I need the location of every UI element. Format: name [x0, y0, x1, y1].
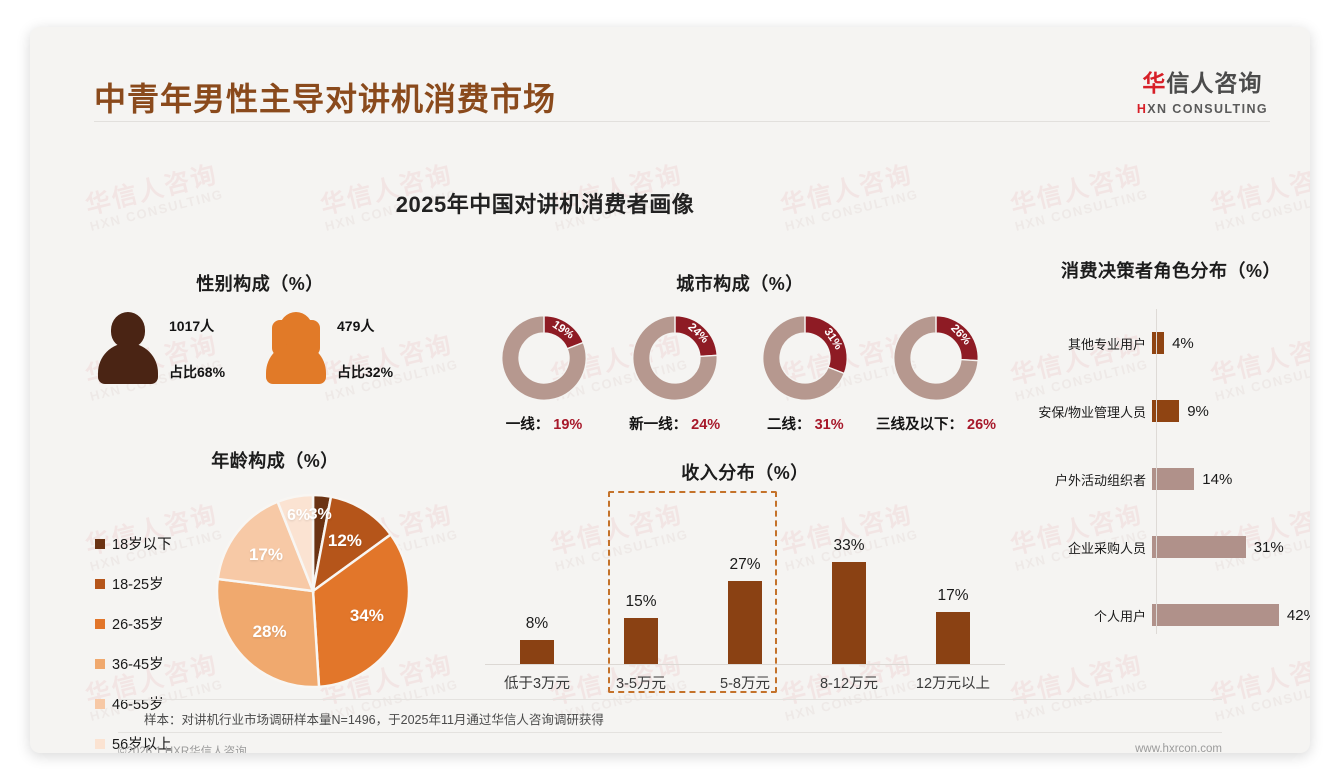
- website-text: www.hxrcon.com: [1135, 743, 1222, 753]
- male-person-icon: [95, 312, 161, 384]
- city-donut-set: 19%一线： 19%24%新一线： 24%31%二线： 31%26%三线及以下：…: [470, 310, 1010, 434]
- donut-caption-value: 31%: [815, 417, 844, 433]
- gender-count: 1017人: [169, 316, 225, 336]
- role-label: 企业采购人员: [1030, 538, 1152, 557]
- role-value: 9%: [1187, 403, 1209, 420]
- age-legend-item: 26-35岁: [95, 613, 205, 634]
- sample-note: 样本：对讲机行业市场调研样本量N=1496，于2025年11月通过华信人咨询调研…: [144, 709, 604, 728]
- role-label: 安保/物业管理人员: [1030, 402, 1152, 421]
- legend-swatch: [95, 539, 105, 549]
- age-legend-item: 18-25岁: [95, 573, 205, 594]
- logo-accent-char: 华: [1142, 70, 1166, 96]
- role-label: 户外活动组织者: [1030, 470, 1152, 489]
- role-bar-row: 企业采购人员31%: [1030, 513, 1310, 581]
- pie-slice-label: 28%: [253, 622, 287, 642]
- legend-swatch: [95, 619, 105, 629]
- brand-logo: 华信人咨询 HXN CONSULTING: [1137, 64, 1268, 116]
- income-axis-line: [485, 664, 1005, 665]
- role-label: 个人用户: [1030, 606, 1152, 625]
- logo-en-rest: XN CONSULTING: [1147, 102, 1268, 116]
- income-bar-column: 33%: [797, 505, 901, 665]
- watermark-text: 华信人咨询HXN CONSULTING: [1207, 161, 1310, 234]
- income-bar: [832, 562, 866, 665]
- note-divider-top: [118, 699, 1222, 700]
- role-label: 其他专业用户: [1030, 334, 1152, 353]
- age-panel-title: 年龄构成（%）: [95, 447, 455, 473]
- donut-svg: 24%: [627, 310, 723, 406]
- header-divider: [94, 121, 1270, 122]
- legend-swatch: [95, 699, 105, 709]
- role-value: 4%: [1172, 335, 1194, 352]
- logo-rest-chars: 信人咨询: [1166, 70, 1262, 96]
- donut-caption: 一线： 19%: [484, 413, 604, 434]
- income-x-label: 8-12万元: [797, 672, 901, 693]
- copyright-text: ©2026.1 HXR华信人咨询: [118, 743, 247, 753]
- city-panel-title: 城市构成（%）: [470, 270, 1010, 296]
- legend-swatch: [95, 659, 105, 669]
- logo-chinese: 华信人咨询: [1137, 64, 1268, 98]
- income-bar-value: 17%: [937, 587, 968, 605]
- income-bar: [728, 581, 762, 665]
- role-bar-row: 户外活动组织者14%: [1030, 445, 1310, 513]
- role-value: 31%: [1254, 539, 1284, 556]
- gender-count: 479人: [337, 316, 393, 336]
- income-x-label: 12万元以上: [901, 672, 1005, 693]
- gender-items: 1017人占比68%479人占比32%: [95, 312, 425, 384]
- donut-caption: 新一线： 24%: [615, 413, 735, 434]
- slide-card: 华信人咨询HXN CONSULTING华信人咨询HXN CONSULTING华信…: [30, 27, 1310, 753]
- role-bars: 其他专业用户4%安保/物业管理人员9%户外活动组织者14%企业采购人员31%个人…: [1030, 309, 1310, 649]
- legend-label: 36-45岁: [112, 653, 164, 674]
- income-bar-value: 33%: [833, 537, 864, 555]
- role-panel: 消费决策者角色分布（%） 其他专业用户4%安保/物业管理人员9%户外活动组织者1…: [1030, 257, 1310, 649]
- gender-share: 占比32%: [337, 362, 393, 382]
- role-value: 14%: [1202, 471, 1232, 488]
- pie-slice-label: 3%: [309, 506, 332, 524]
- role-axis-line: [1156, 309, 1157, 634]
- role-bar-row: 个人用户42%: [1030, 581, 1310, 649]
- donut-caption-value: 26%: [967, 417, 996, 433]
- age-pie-chart: 3%12%34%28%17%6%: [213, 491, 413, 691]
- income-bar-value: 8%: [526, 615, 548, 633]
- gender-panel-title: 性别构成（%）: [95, 270, 425, 296]
- role-bar: [1152, 604, 1279, 626]
- donut-caption-value: 19%: [553, 417, 582, 433]
- city-donut: 31%二线： 31%: [745, 310, 865, 434]
- pie-slice-label: 17%: [249, 545, 283, 565]
- female-person-icon: [263, 312, 329, 384]
- role-value: 42%: [1287, 607, 1310, 624]
- age-panel: 年龄构成（%） 18岁以下18-25岁26-35岁36-45岁46-55岁56岁…: [95, 447, 455, 753]
- income-bar-column: 27%: [693, 505, 797, 665]
- watermark-text: 华信人咨询HXN CONSULTING: [1007, 651, 1150, 724]
- pie-slice-label: 12%: [328, 531, 362, 551]
- income-bar: [520, 640, 554, 665]
- gender-item: 1017人占比68%: [95, 312, 257, 384]
- gender-item: 479人占比32%: [263, 312, 425, 384]
- role-bar-row: 安保/物业管理人员9%: [1030, 377, 1310, 445]
- age-legend-item: 36-45岁: [95, 653, 205, 674]
- donut-caption: 三线及以下： 26%: [876, 413, 996, 434]
- legend-label: 26-35岁: [112, 613, 164, 634]
- income-bars: 8%15%27%33%17%: [485, 505, 1005, 665]
- income-bar-value: 15%: [625, 593, 656, 611]
- role-bar: [1152, 332, 1164, 354]
- income-bar: [936, 612, 970, 665]
- income-bar-column: 15%: [589, 505, 693, 665]
- gender-share: 占比68%: [169, 362, 225, 382]
- logo-english: HXN CONSULTING: [1137, 102, 1268, 116]
- legend-swatch: [95, 579, 105, 589]
- role-bar-row: 其他专业用户4%: [1030, 309, 1310, 377]
- city-donut: 19%一线： 19%: [484, 310, 604, 434]
- income-x-labels: 低于3万元3-5万元5-8万元8-12万元12万元以上: [485, 672, 1005, 693]
- watermark-text: 华信人咨询HXN CONSULTING: [1207, 651, 1310, 724]
- legend-label: 18岁以下: [112, 533, 172, 554]
- pie-slice-label: 6%: [287, 507, 310, 525]
- slide-header: 中青年男性主导对讲机消费市场 华信人咨询 HXN CONSULTING: [30, 27, 1310, 127]
- donut-svg: 31%: [757, 310, 853, 406]
- role-panel-title: 消费决策者角色分布（%）: [1030, 257, 1310, 283]
- donut-caption: 二线： 31%: [745, 413, 865, 434]
- donut-caption-value: 24%: [691, 417, 720, 433]
- income-x-label: 低于3万元: [485, 672, 589, 693]
- age-legend-item: 18岁以下: [95, 533, 205, 554]
- income-panel-title: 收入分布（%）: [485, 459, 1005, 485]
- legend-swatch: [95, 739, 105, 749]
- income-x-label: 3-5万元: [589, 672, 693, 693]
- legend-label: 18-25岁: [112, 573, 164, 594]
- income-bar-column: 8%: [485, 505, 589, 665]
- role-bar: [1152, 468, 1194, 490]
- income-panel: 收入分布（%） 8%15%27%33%17% 低于3万元3-5万元5-8万元8-…: [485, 459, 1005, 693]
- donut-svg: 26%: [888, 310, 984, 406]
- note-divider-bottom: [118, 732, 1222, 733]
- income-bar-chart: 8%15%27%33%17%: [485, 495, 1005, 665]
- infographic-title: 2025年中国对讲机消费者画像: [30, 187, 1060, 219]
- gender-panel: 性别构成（%） 1017人占比68%479人占比32%: [95, 270, 425, 384]
- pie-slice-label: 34%: [350, 606, 384, 626]
- page-title: 中青年男性主导对讲机消费市场: [94, 74, 556, 120]
- city-panel: 城市构成（%） 19%一线： 19%24%新一线： 24%31%二线： 31%2…: [470, 270, 1010, 434]
- city-donut: 24%新一线： 24%: [615, 310, 735, 434]
- income-x-label: 5-8万元: [693, 672, 797, 693]
- city-donut: 26%三线及以下： 26%: [876, 310, 996, 434]
- role-bar: [1152, 536, 1246, 558]
- income-bar: [624, 618, 658, 665]
- income-bar-column: 17%: [901, 505, 1005, 665]
- donut-svg: 19%: [496, 310, 592, 406]
- income-bar-value: 27%: [729, 556, 760, 574]
- logo-en-accent: H: [1137, 102, 1147, 116]
